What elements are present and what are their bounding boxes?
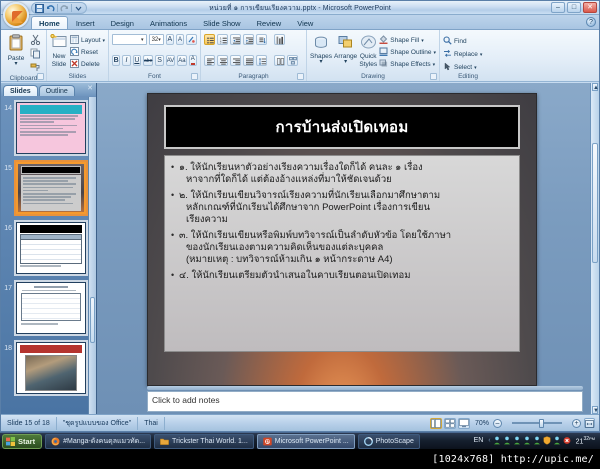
thumb-title-bar [20, 225, 82, 233]
font-color-swatch [191, 63, 195, 65]
scroll-down-icon[interactable]: ▼ [592, 406, 598, 414]
strikethrough-label: abe [144, 56, 152, 67]
office-button[interactable] [3, 2, 29, 28]
watermark: [1024x768] http://upic.me/ [0, 449, 600, 469]
tab-design[interactable]: Design [103, 16, 142, 29]
replace-icon [443, 49, 452, 60]
bullet-line: (หมายเหตุ : บทวิจารณ์ห้ามเกิน ๑ หน้ากระด… [179, 254, 393, 266]
delete-button[interactable]: Delete [70, 59, 105, 70]
justify-button[interactable] [243, 55, 254, 66]
underline-button[interactable]: U [133, 55, 141, 66]
shape-effects-dropdown-icon[interactable]: ▾ [433, 62, 436, 68]
find-label: Find [454, 38, 467, 45]
font-color-button[interactable]: A [189, 55, 197, 66]
svg-text:3: 3 [220, 42, 222, 44]
select-button[interactable]: Select ▾ [443, 62, 493, 73]
zoom-out-button[interactable]: – [493, 419, 502, 428]
theme-name[interactable]: "ชุดรูปแบบของ Office" [57, 417, 138, 430]
thumbnail-frame [14, 100, 88, 156]
bullet-text: ๔. ให้นักเรียนเตรียมตัวนำเสนอในคาบเรียนต… [179, 270, 511, 282]
taskbar-item-label: Trickster Thai World. 1... [172, 438, 248, 445]
select-dropdown-icon[interactable]: ▾ [474, 65, 477, 71]
bullet-line: หลักเกณฑ์ที่นักเรียนได้ศึกษาจาก PowerPoi… [179, 202, 430, 214]
ribbon-group-editing: Find Replace ▾ Select ▾ [440, 30, 496, 81]
bullet-text: ๒. ให้นักเรียนเขียนวิจารณ์เรียงความที่นั… [179, 190, 511, 226]
tab-view[interactable]: View [289, 16, 321, 29]
thumb-title-bar [21, 166, 81, 174]
normal-view-button[interactable] [430, 418, 442, 429]
bullet-line: ๒. ให้นักเรียนเขียนวิจารณ์เรียงความที่นั… [179, 190, 440, 201]
language-status[interactable]: Thai [138, 417, 165, 430]
start-button[interactable]: Start [2, 434, 42, 449]
clear-format-icon [188, 36, 195, 45]
ribbon-group-drawing: Shapes ▾ Arrange ▾ Quick [307, 30, 440, 81]
tray-icon-4[interactable] [523, 436, 531, 445]
slides-pane-scrollbar[interactable] [88, 97, 96, 414]
slide-bullet: • ๑. ให้นักเรียนหาตัวอย่างเรียงความเรื่อ… [171, 162, 511, 186]
font-name-input[interactable]: ▾ [112, 34, 147, 45]
shape-outline-icon [379, 47, 388, 58]
thumbnail-frame [14, 340, 88, 396]
slide-area-scroll-thumb[interactable] [592, 143, 598, 263]
decrease-indent-icon [233, 37, 238, 46]
font-name-dropdown-icon[interactable]: ▾ [141, 37, 144, 43]
grow-font-button[interactable]: A [166, 34, 174, 45]
thumb-title-bar [20, 345, 82, 353]
reset-button[interactable]: Reset [70, 47, 105, 58]
align-center-button[interactable] [217, 55, 228, 66]
maximize-button[interactable]: □ [567, 2, 581, 13]
bullet-text: ๓. ให้นักเรียนเขียนหรือพิมพ์บทวิจารณ์เป็… [179, 230, 511, 266]
slide-thumbnail-item[interactable]: 18 [3, 340, 88, 396]
paragraph-group-label: Paragraph [204, 73, 303, 81]
slide-edit-area: การบ้านส่งเปิดเทอม • ๑. ให้นักเรียนหาตัว… [97, 83, 599, 414]
copy-icon[interactable] [30, 48, 41, 61]
thumb-form [21, 293, 81, 321]
align-center-icon [220, 58, 225, 67]
zoom-in-button[interactable]: + [572, 419, 581, 428]
title-bar: หน่วยที่ ๑ การเขียนเรียงความ.pptx - Micr… [1, 1, 599, 15]
thumbnail-frame [14, 160, 88, 216]
change-case-button[interactable]: Aa [177, 55, 186, 66]
tab-review[interactable]: Review [249, 16, 290, 29]
columns-icon [277, 58, 282, 67]
slide-number: 16 [3, 220, 14, 232]
bold-label: B [113, 56, 119, 66]
ribbon-group-paragraph: 123 [201, 30, 307, 81]
arrange-button[interactable]: Arrange ▾ [334, 34, 357, 65]
slide-thumbnail-item[interactable]: 14 [3, 100, 88, 156]
slide-number: 17 [3, 280, 14, 292]
folder-icon [160, 437, 169, 446]
tray-icon-6[interactable] [553, 436, 561, 445]
powerpoint-icon [263, 437, 272, 446]
shield-icon[interactable] [543, 436, 551, 445]
grow-font-label: A [167, 35, 173, 45]
slide-body-placeholder[interactable]: • ๑. ให้นักเรียนหาตัวอย่างเรียงความเรื่อ… [164, 155, 520, 352]
taskbar-item-label: PhotoScape [376, 438, 414, 445]
bullet-text: ๑. ให้นักเรียนหาตัวอย่างเรียงความเรื่องใ… [179, 162, 511, 186]
shape-effects-label: Shape Effects [390, 61, 430, 68]
thumbnail-preview[interactable] [16, 102, 86, 154]
delete-label: Delete [81, 61, 100, 68]
drawing-group-label: Drawing [310, 73, 436, 81]
start-label: Start [18, 437, 35, 446]
italic-button[interactable]: I [122, 55, 130, 66]
bullets-icon [207, 37, 212, 46]
replace-label: Replace [454, 51, 478, 58]
firefox-icon [51, 437, 60, 446]
notes-splitter[interactable] [147, 386, 583, 390]
ribbon-tabs[interactable]: Home Insert Design Animations Slide Show… [1, 15, 599, 30]
tray-icon-2[interactable] [503, 436, 511, 445]
zoom-slider[interactable] [502, 418, 572, 429]
ribbon-group-slides: New Slide Layout ▾ [47, 30, 109, 81]
workspace: Slides Outline ✕ 14 [1, 83, 599, 414]
slide-title-text: การบ้านส่งเปิดเทอม [275, 115, 408, 139]
slide-sorter-button[interactable] [444, 418, 456, 429]
bullet-line: ๓. ให้นักเรียนเขียนหรือพิมพ์บทวิจารณ์เป็… [179, 230, 451, 241]
slide-thumbnail-item-selected[interactable]: 15 [3, 160, 88, 216]
taskbar-clock[interactable]: 2132PM [573, 436, 595, 445]
bullet-marker: • [171, 162, 179, 186]
clear-formatting-button[interactable] [186, 34, 197, 45]
thumb-body-box [21, 175, 81, 211]
align-right-icon [233, 58, 238, 67]
shape-fill-icon [379, 35, 388, 46]
window-title: หน่วยที่ ๑ การเขียนเรียงความ.pptx - Micr… [1, 3, 599, 14]
bullet-marker: • [171, 230, 179, 266]
shape-effects-icon [379, 59, 388, 70]
zoom-level[interactable]: 70% [475, 420, 493, 427]
increase-indent-button[interactable] [243, 34, 254, 45]
taskbar-item-folder[interactable]: Trickster Thai World. 1... [154, 434, 254, 449]
thumbnail-frame [14, 280, 88, 336]
zoom-slider-track [512, 422, 562, 424]
window-controls[interactable]: – □ ✕ [551, 2, 597, 13]
paste-dropdown-icon[interactable]: ▾ [14, 62, 17, 67]
new-slide-label-2: Slide [52, 61, 66, 68]
fit-slide-to-window-button[interactable] [584, 418, 595, 428]
select-label: Select [454, 64, 472, 71]
align-left-icon [207, 58, 212, 67]
align-right-button[interactable] [230, 55, 241, 66]
new-slide-button[interactable]: New Slide [50, 33, 68, 68]
notes-pane[interactable]: Click to add notes [147, 391, 583, 412]
character-spacing-button[interactable]: AV [166, 55, 176, 66]
taskbar-item-powerpoint[interactable]: Microsoft PowerPoint ... [257, 434, 355, 449]
bullet-marker: • [171, 190, 179, 226]
slide-counter[interactable]: Slide 15 of 18 [1, 417, 57, 430]
scroll-up-icon[interactable]: ▲ [592, 83, 598, 91]
shape-outline-label: Shape Outline [390, 49, 431, 56]
increase-indent-icon [246, 37, 251, 46]
watermark-text: [1024x768] http://upic.me/ [432, 454, 594, 465]
tray-icon-1[interactable] [493, 436, 501, 445]
slide-show-button[interactable] [458, 418, 470, 429]
search-icon [443, 36, 452, 47]
drawing-dialog-launcher[interactable] [430, 73, 437, 80]
text-direction-button[interactable] [256, 34, 267, 45]
close-button[interactable]: ✕ [583, 2, 597, 13]
delete-slide-icon [70, 59, 79, 70]
bullet-line: เรียงความ [179, 214, 228, 226]
taskbar-item-label: #Manga-ดังคนดุลแมวทัด... [63, 436, 145, 447]
bullet-line: หาจากที่ใดก็ได้ แต่ต้องอ้างแหล่งที่มาให้… [179, 174, 392, 186]
slide-title-placeholder[interactable]: การบ้านส่งเปิดเทอม [164, 105, 520, 149]
shrink-font-label: A [177, 35, 183, 45]
reset-icon [70, 47, 79, 58]
convert-to-smartart-button[interactable] [287, 55, 298, 66]
font-group-label: Font [112, 73, 197, 81]
status-bar: Slide 15 of 18 "ชุดรูปแบบของ Office" Tha… [1, 414, 599, 431]
close-slides-pane-icon[interactable]: ✕ [87, 84, 93, 92]
tray-icon-3[interactable] [513, 436, 521, 445]
slide-bullet: • ๔. ให้นักเรียนเตรียมตัวนำเสนอในคาบเรีย… [171, 270, 511, 282]
change-case-label: Aa [178, 56, 185, 66]
slide-canvas[interactable]: การบ้านส่งเปิดเทอม • ๑. ให้นักเรียนหาตัว… [147, 93, 537, 386]
layout-icon [70, 35, 79, 46]
character-spacing-label: AV [167, 56, 175, 66]
text-direction-alt-icon [276, 36, 283, 47]
language-indicator[interactable]: EN [471, 437, 487, 444]
reset-label: Reset [81, 49, 98, 56]
thumbnail-frame [14, 220, 88, 276]
shape-fill-dropdown-icon[interactable]: ▾ [421, 38, 424, 44]
shape-fill-label: Shape Fill [390, 37, 419, 44]
new-slide-label-1: New [52, 53, 65, 60]
powerpoint-window: หน่วยที่ ๑ การเขียนเรียงความ.pptx - Micr… [0, 0, 600, 432]
thumb-photo [25, 355, 77, 391]
thumb-body-lines [20, 115, 82, 136]
slide-number: 15 [3, 160, 14, 172]
font-size-dropdown-icon[interactable]: ▾ [158, 37, 161, 43]
shape-effects-button[interactable]: Shape Effects ▾ [379, 59, 436, 70]
thumbnail-preview[interactable] [16, 162, 86, 214]
slides-group-label: Slides [50, 73, 105, 81]
slides-pane: Slides Outline ✕ 14 [1, 83, 97, 414]
paragraph-dialog-launcher[interactable] [297, 73, 304, 80]
slide-thumbnail-item[interactable]: 16 [3, 220, 88, 276]
slide-number: 14 [3, 100, 14, 112]
bold-button[interactable]: B [112, 55, 120, 66]
slide-bullet: • ๒. ให้นักเรียนเขียนวิจารณ์เรียงความที่… [171, 190, 511, 226]
italic-label: I [123, 56, 129, 66]
zoom-slider-handle[interactable] [539, 419, 544, 428]
font-color-label: A [190, 56, 196, 63]
tab-home[interactable]: Home [31, 16, 68, 29]
clipboard-dialog-launcher[interactable] [37, 73, 44, 80]
shape-outline-dropdown-icon[interactable]: ▾ [433, 50, 436, 56]
clock-suffix: PM [589, 436, 595, 441]
thumb-table [20, 234, 82, 264]
bullet-line: ๔. ให้นักเรียนเตรียมตัวนำเสนอในคาบเรียนต… [179, 270, 411, 281]
paste-icon [7, 34, 25, 54]
quick-styles-label-2: Styles [359, 61, 377, 68]
numbering-button[interactable]: 123 [217, 34, 228, 45]
tab-slide-show[interactable]: Slide Show [195, 16, 249, 29]
replace-button[interactable]: Replace ▾ [443, 49, 493, 60]
slide-area-scrollbar[interactable]: ▲ ▼ [590, 83, 599, 414]
shape-outline-button[interactable]: Shape Outline ▾ [379, 47, 436, 58]
view-buttons[interactable] [430, 418, 475, 429]
strikethrough-button[interactable]: abe [143, 55, 153, 66]
windows-logo-icon [6, 437, 15, 446]
error-icon[interactable] [563, 436, 571, 445]
quick-styles-button[interactable]: Quick Styles [359, 34, 377, 68]
layout-label: Layout [81, 37, 101, 44]
tray-icon-5[interactable] [533, 436, 541, 445]
shapes-button[interactable]: Shapes ▾ [310, 34, 332, 65]
paste-button[interactable]: Paste ▾ [4, 33, 28, 67]
help-icon[interactable]: ? [586, 17, 596, 27]
text-direction-group-button[interactable] [274, 34, 285, 45]
editing-group-label: Editing [443, 73, 493, 81]
bullet-marker: • [171, 270, 179, 282]
align-left-button[interactable] [204, 55, 215, 66]
text-shadow-button[interactable]: S [155, 55, 163, 66]
ribbon-group-font: ▾ 32 ▾ A A [109, 30, 201, 81]
shape-fill-button[interactable]: Shape Fill ▾ [379, 35, 436, 46]
font-size-input[interactable]: 32 ▾ [149, 34, 164, 45]
shapes-icon [313, 35, 330, 52]
system-tray[interactable]: EN ‹ 2132PM [471, 436, 598, 445]
arrange-dropdown-icon[interactable]: ▾ [344, 60, 347, 65]
text-shadow-label: S [156, 56, 162, 66]
bullets-button[interactable] [204, 34, 215, 45]
taskbar-item-photoscape[interactable]: PhotoScape [358, 434, 420, 449]
tab-slides[interactable]: Slides [3, 85, 38, 96]
slides-pane-tabs[interactable]: Slides Outline ✕ [1, 83, 96, 96]
font-size-value: 32 [152, 37, 159, 43]
thumbnail-preview[interactable] [16, 342, 86, 394]
decrease-indent-button[interactable] [230, 34, 241, 45]
taskbar: Start #Manga-ดังคนดุลแมวทัด... Trickster… [0, 432, 600, 449]
bullet-line: ของนักเรียนเองตามความคิดเห็นของแต่ละบุคค… [179, 242, 383, 254]
font-dialog-launcher[interactable] [191, 73, 198, 80]
underline-label: U [134, 56, 140, 66]
quick-styles-icon [360, 35, 377, 52]
photoscape-icon [364, 437, 373, 446]
convert-to-smartart-icon [289, 57, 296, 67]
ribbon-group-clipboard: Paste ▾ Clipboa [1, 30, 47, 81]
layout-dropdown-icon[interactable]: ▾ [103, 38, 106, 44]
new-slide-icon [50, 34, 68, 52]
taskbar-item-firefox[interactable]: #Manga-ดังคนดุลแมวทัด... [45, 434, 151, 449]
line-spacing-button[interactable] [256, 55, 267, 66]
find-button[interactable]: Find [443, 36, 493, 47]
ribbon: Paste ▾ Clipboa [1, 30, 599, 82]
minimize-button[interactable]: – [551, 2, 565, 13]
numbering-icon: 123 [220, 37, 225, 46]
slide-bullet: • ๓. ให้นักเรียนเขียนหรือพิมพ์บทวิจารณ์เ… [171, 230, 511, 266]
columns-button[interactable] [274, 55, 285, 66]
taskbar-item-label: Microsoft PowerPoint ... [275, 438, 349, 445]
text-direction-icon [259, 37, 264, 46]
notes-placeholder: Click to add notes [152, 395, 220, 405]
line-spacing-icon [259, 58, 264, 67]
tab-animations[interactable]: Animations [142, 16, 195, 29]
cut-icon[interactable] [30, 34, 41, 47]
arrange-icon [338, 35, 354, 52]
thumbnail-preview[interactable] [16, 282, 86, 334]
thumbnail-preview[interactable] [16, 222, 86, 274]
justify-icon [246, 58, 251, 67]
quick-styles-label-1: Quick [360, 53, 377, 60]
tab-outline[interactable]: Outline [39, 85, 75, 96]
tray-expand-icon[interactable]: ‹ [488, 437, 490, 444]
bullet-line: ๑. ให้นักเรียนหาตัวอย่างเรียงความเรื่องใ… [179, 162, 423, 173]
slide-number: 18 [3, 340, 14, 352]
layout-button[interactable]: Layout ▾ [70, 35, 105, 46]
slide-thumbnail-item[interactable]: 17 [3, 280, 88, 336]
slides-pane-scroll-thumb[interactable] [90, 297, 95, 343]
shrink-font-button[interactable]: A [176, 34, 184, 45]
select-icon [443, 62, 452, 73]
screenshot-root: หน่วยที่ ๑ การเขียนเรียงความ.pptx - Micr… [0, 0, 600, 469]
replace-dropdown-icon[interactable]: ▾ [480, 52, 483, 58]
tab-insert[interactable]: Insert [68, 16, 103, 29]
thumb-title-bar [20, 105, 82, 114]
shapes-dropdown-icon[interactable]: ▾ [320, 60, 323, 65]
slide-thumbnail-list[interactable]: 14 [1, 97, 88, 414]
